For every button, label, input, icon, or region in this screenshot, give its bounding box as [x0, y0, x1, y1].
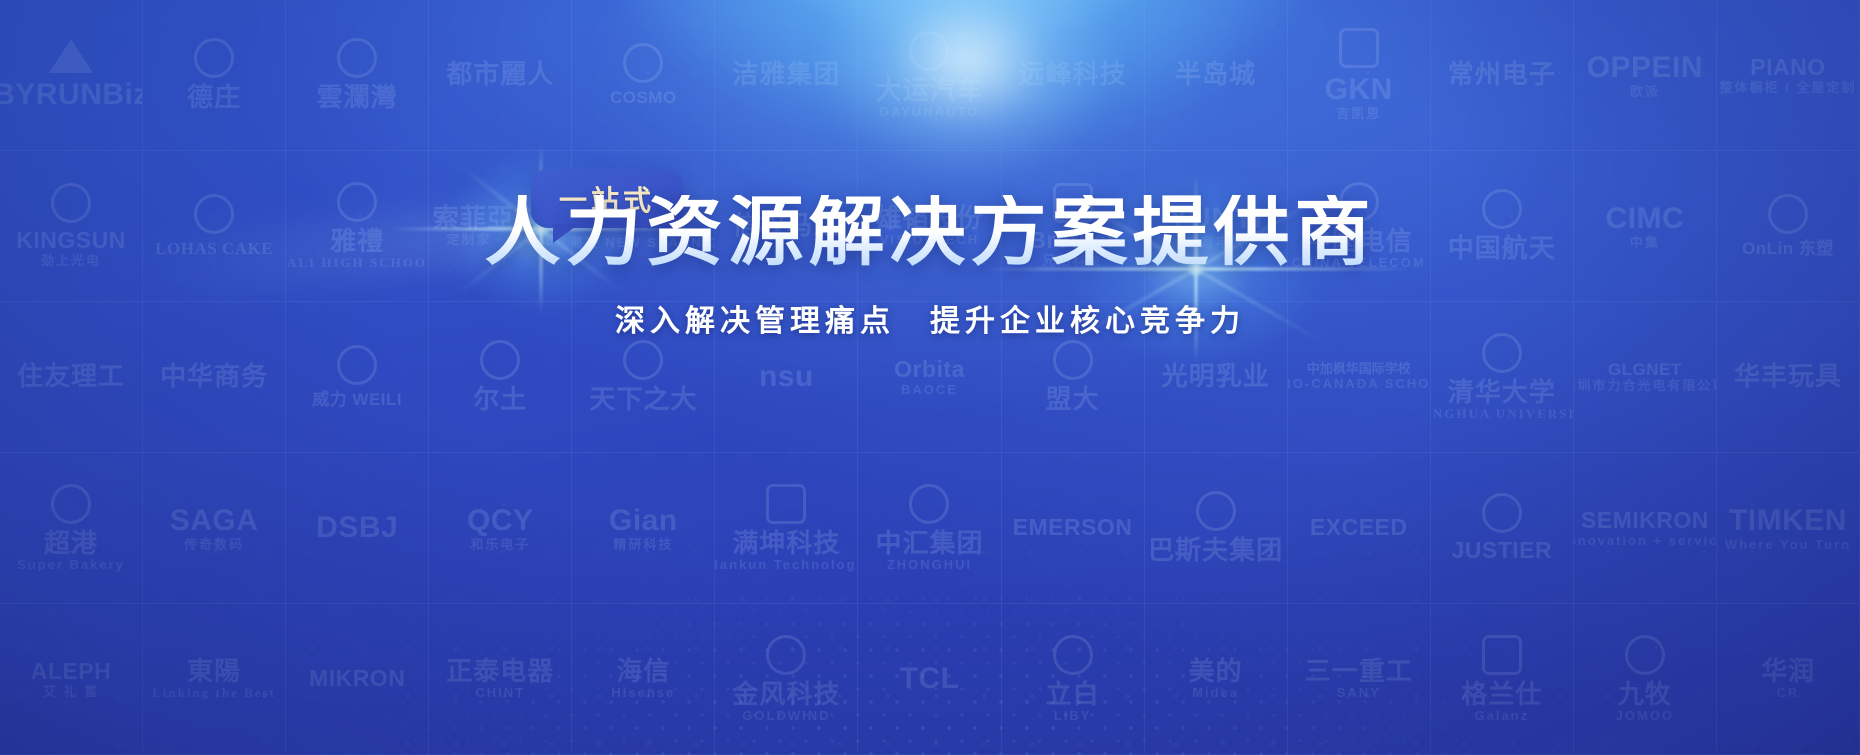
page-title: 人力资源解决方案提供商 — [485, 195, 1376, 271]
headline-row: 人力资源解决方案提供商 — [0, 195, 1860, 271]
page-subtitle: 深入解决管理痛点 提升企业核心竞争力 — [615, 296, 1245, 340]
subheadline-row: 深入解决管理痛点 提升企业核心竞争力 — [0, 296, 1860, 340]
hero-banner: BYRUNBiz德庄雲瀾灣都市麗人COSMO洁雅集团大运汽车DAYUNAUTO远… — [0, 0, 1860, 755]
banner-content: 一站式 人力资源解决方案提供商 深入解决管理痛点 提升企业核心竞争力 — [0, 0, 1860, 755]
